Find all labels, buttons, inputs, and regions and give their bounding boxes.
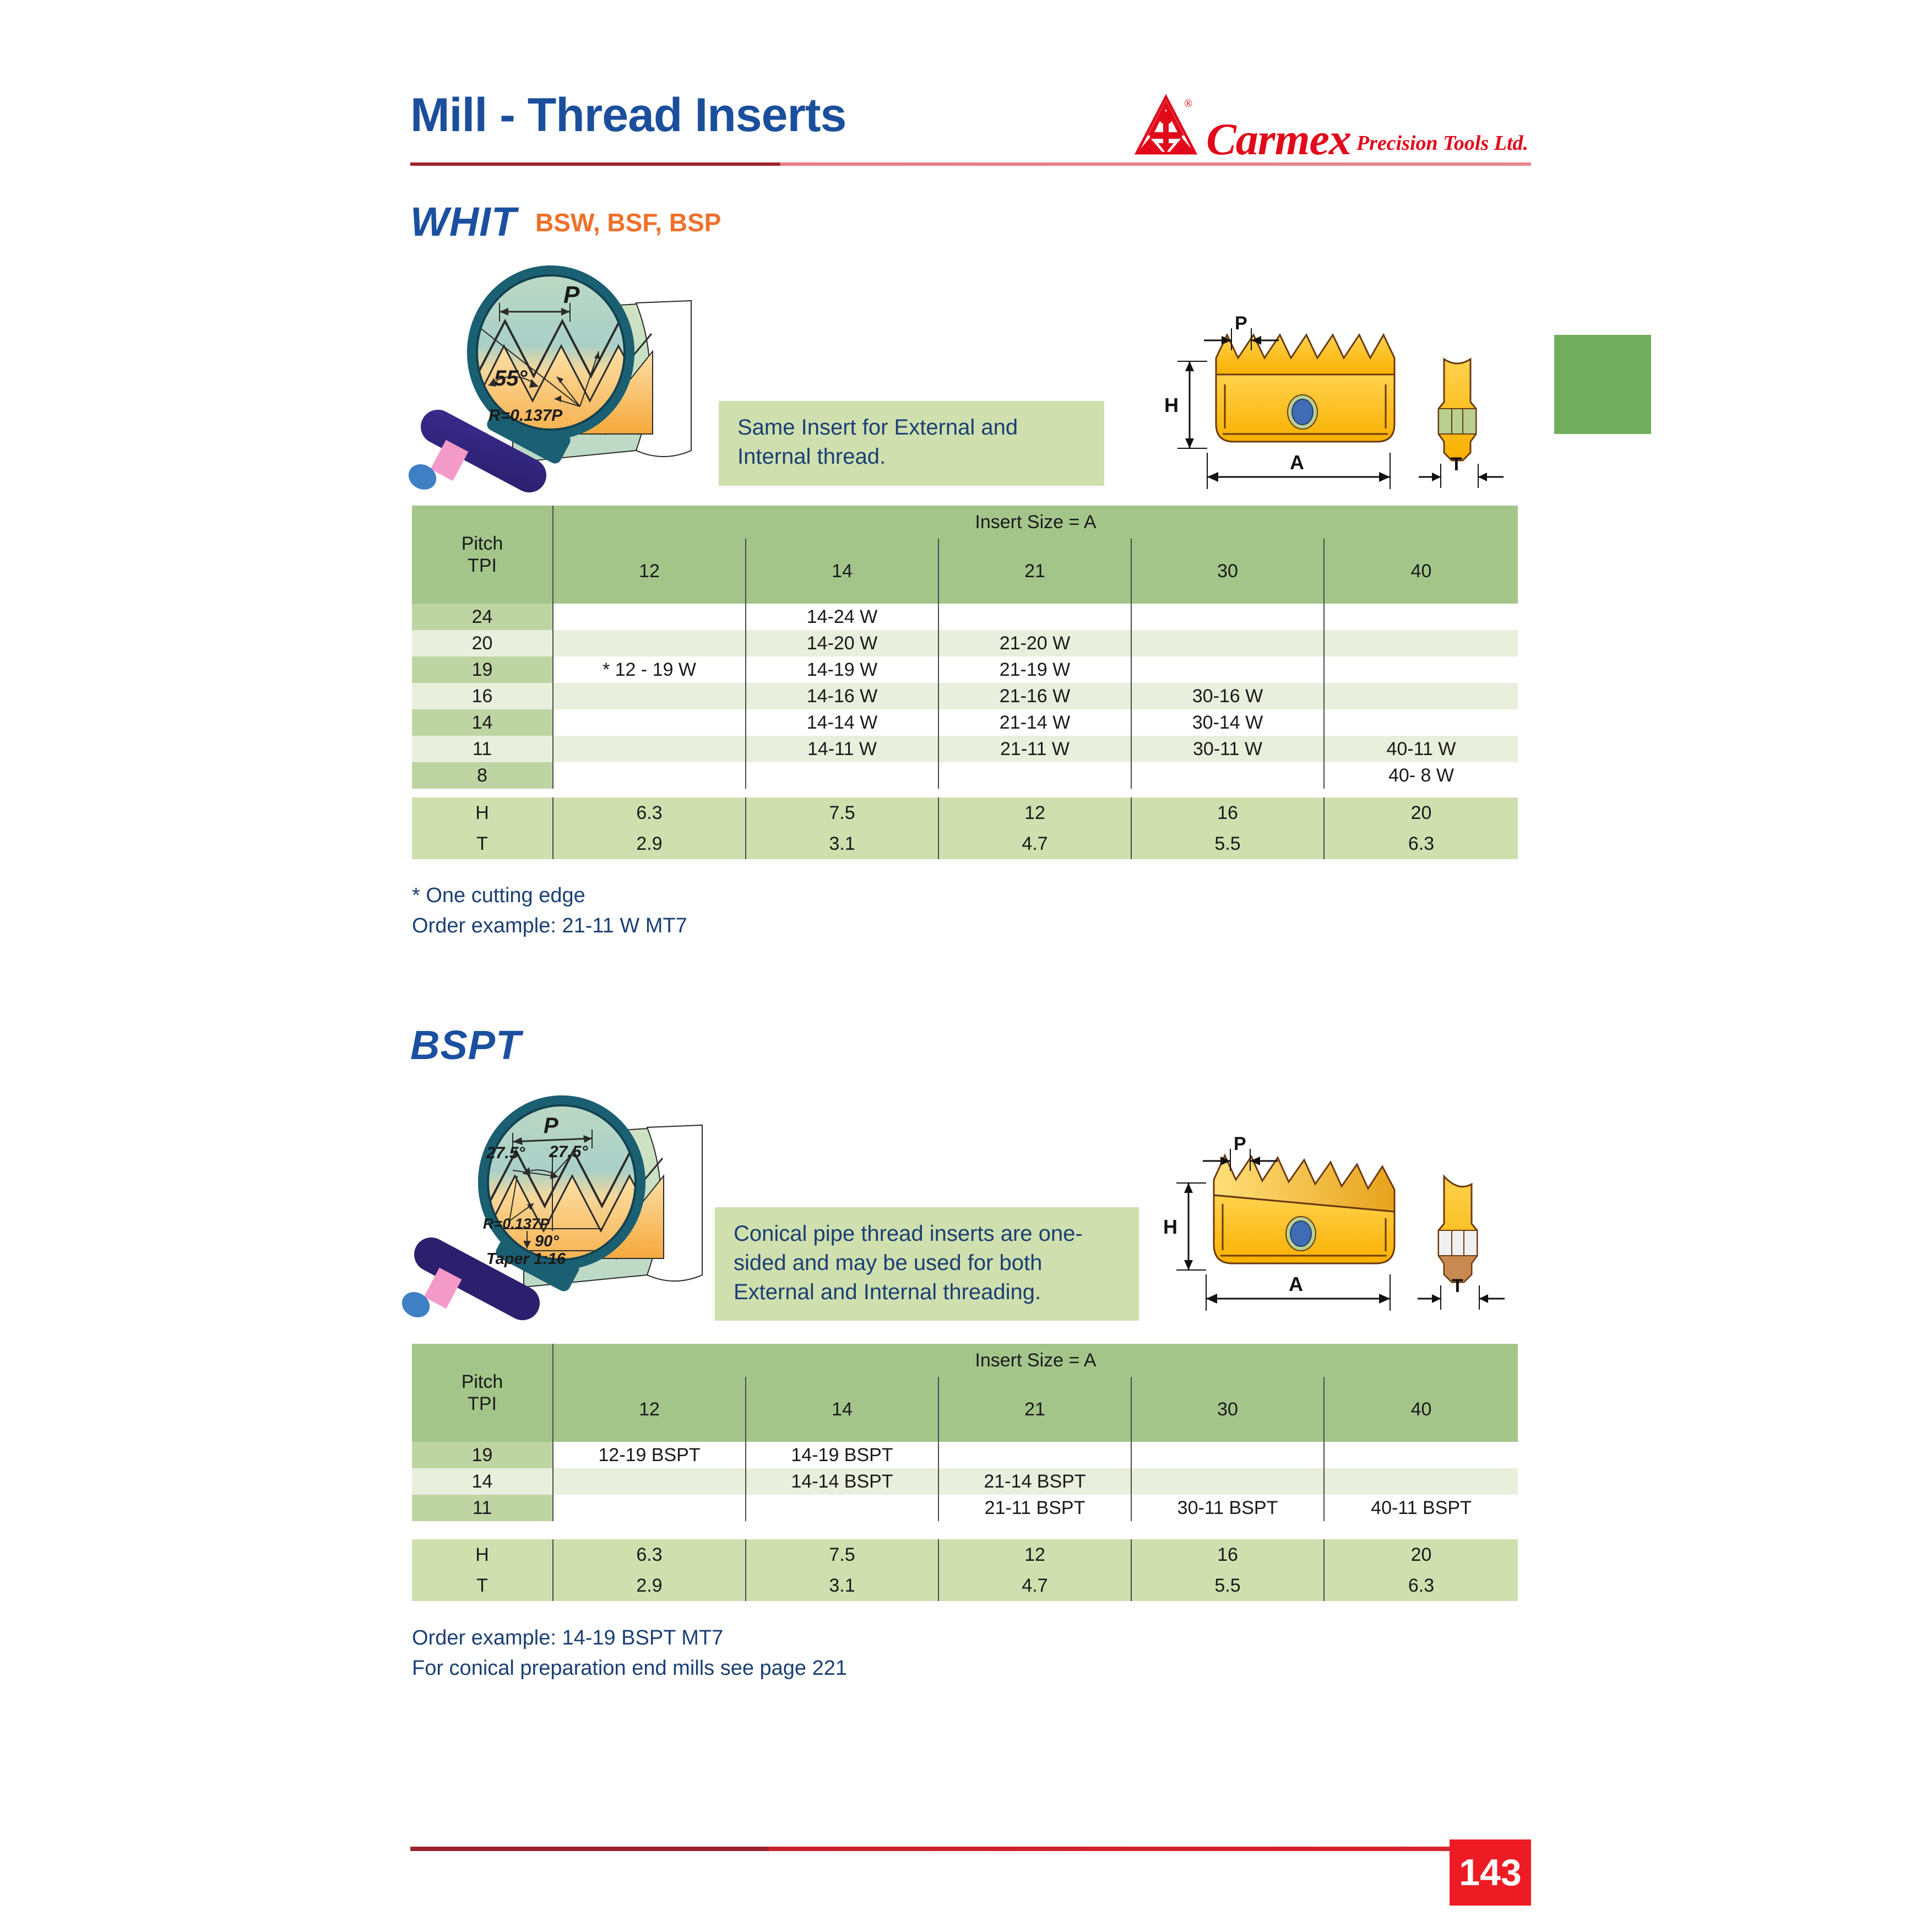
whit-dimension-table: H 6.3 7.5 12 16 20 T 2.9 3.1 4.7 5.5 6.3 xyxy=(412,797,1518,859)
whit-cell-24-21 xyxy=(938,604,1131,630)
bspt-label-radius: R=0.137P xyxy=(483,1215,550,1232)
whit-cell-14-30: 30-14 W xyxy=(1131,709,1324,736)
bspt-cell-11-12 xyxy=(553,1495,746,1521)
whit-insert-label-h: H xyxy=(1164,394,1179,416)
whit-dim-h-14: 7.5 xyxy=(746,797,938,828)
bspt-label-taper: Taper 1:16 xyxy=(486,1250,566,1268)
table-row: 24 14-24 W xyxy=(412,604,1518,630)
whit-dim-h-30: 16 xyxy=(1131,797,1324,828)
whit-cell-16-12 xyxy=(553,683,746,709)
bspt-dim-label-h: H xyxy=(412,1539,553,1570)
whit-col-head-12: 12 xyxy=(553,539,746,604)
table-row: 11 14-11 W 21-11 W 30-11 W 40-11 W xyxy=(412,736,1518,762)
whit-tpi-20: 20 xyxy=(412,630,553,656)
page-number-tab: 143 xyxy=(1450,1839,1531,1906)
bspt-tpi-11: 11 xyxy=(412,1495,553,1521)
bspt-cell-19-40 xyxy=(1324,1442,1518,1468)
whit-cell-14-14: 14-14 W xyxy=(746,709,938,736)
section-title-bspt: BSPT xyxy=(410,1022,521,1068)
whit-cell-16-14: 14-16 W xyxy=(746,683,938,709)
page-title: Mill - Thread Inserts xyxy=(410,88,846,143)
catalog-page: Mill - Thread Inserts ® Carmex Precision xyxy=(0,0,1932,1932)
whit-insert-table: Pitch TPI Insert Size = A 12 14 21 30 40… xyxy=(412,506,1518,789)
bspt-dim-t-14: 3.1 xyxy=(746,1570,938,1601)
whit-tpi-11: 11 xyxy=(412,736,553,762)
bspt-dim-h-12: 6.3 xyxy=(553,1539,746,1570)
whit-cell-20-21: 21-20 W xyxy=(938,630,1131,656)
table-row: 20 14-20 W 21-20 W xyxy=(412,630,1518,656)
bspt-col-head-14: 14 xyxy=(746,1377,938,1442)
whit-note-cutting-edge: * One cutting edge xyxy=(412,881,585,910)
whit-span-label: Insert Size = A xyxy=(553,506,1518,539)
whit-insert-label-p: P xyxy=(1235,313,1247,334)
header-divider xyxy=(410,162,1531,166)
bspt-dim-t-21: 4.7 xyxy=(938,1570,1131,1601)
table-row: 16 14-16 W 21-16 W 30-16 W xyxy=(412,683,1518,709)
bspt-dim-t-40: 6.3 xyxy=(1324,1570,1518,1601)
bspt-col-head-30: 30 xyxy=(1131,1377,1324,1442)
whit-dim-h-21: 12 xyxy=(938,797,1131,828)
whit-cell-8-12 xyxy=(553,762,746,789)
whit-cell-11-12 xyxy=(553,736,746,762)
bspt-tpi-14: 14 xyxy=(412,1468,553,1495)
whit-cell-14-40 xyxy=(1324,709,1518,736)
bspt-cell-11-30: 30-11 BSPT xyxy=(1131,1495,1324,1521)
whit-note-order-example: Order example: 21-11 W MT7 xyxy=(412,911,687,940)
bspt-label-half-angle-right: 27.5° xyxy=(549,1143,588,1161)
table-row: 14 14-14 BSPT 21-14 BSPT xyxy=(412,1468,1518,1495)
whit-dim-t-12: 2.9 xyxy=(553,828,746,859)
whit-dim-h-12: 6.3 xyxy=(553,797,746,828)
bspt-cell-14-12 xyxy=(553,1468,746,1495)
whit-dim-t-14: 3.1 xyxy=(746,828,938,859)
whit-cell-19-14: 14-19 W xyxy=(746,656,938,683)
whit-callout-box: Same Insert for External and Internal th… xyxy=(719,401,1104,486)
bspt-col-head-12: 12 xyxy=(553,1377,746,1442)
whit-cell-8-30 xyxy=(1131,762,1324,789)
dimension-row-t: T 2.9 3.1 4.7 5.5 6.3 xyxy=(412,828,1518,859)
bspt-cell-11-14 xyxy=(746,1495,938,1521)
section-subtitle-whit: BSW, BSF, BSP xyxy=(535,208,721,237)
table-header-row: 12 14 21 30 40 xyxy=(412,539,1518,604)
bspt-cell-11-40: 40-11 BSPT xyxy=(1324,1495,1518,1521)
whit-cell-16-21: 21-16 W xyxy=(938,683,1131,709)
whit-cell-20-14: 14-20 W xyxy=(746,630,938,656)
whit-insert-label-a: A xyxy=(1290,451,1304,474)
table-header-row: 12 14 21 30 40 xyxy=(412,1377,1518,1442)
bspt-corner-label: Pitch TPI xyxy=(412,1344,553,1442)
bspt-dim-h-21: 12 xyxy=(938,1539,1131,1570)
whit-cell-16-40 xyxy=(1324,683,1518,709)
whit-cell-11-40: 40-11 W xyxy=(1324,736,1518,762)
table-header-span-row: Pitch TPI Insert Size = A xyxy=(412,506,1518,539)
bspt-cell-19-14: 14-19 BSPT xyxy=(746,1442,938,1468)
whit-col-head-14: 14 xyxy=(746,539,938,604)
section-tab-marker xyxy=(1554,335,1651,434)
whit-cell-8-40: 40- 8 W xyxy=(1324,762,1518,789)
bspt-note-reference: For conical preparation end mills see pa… xyxy=(412,1654,847,1683)
whit-insert-diagram: P H A T xyxy=(1157,314,1531,496)
whit-label-pitch: P xyxy=(563,281,580,308)
dimension-row-h: H 6.3 7.5 12 16 20 xyxy=(412,797,1518,828)
whit-cell-20-30 xyxy=(1131,630,1324,656)
whit-tpi-19: 19 xyxy=(412,656,553,683)
whit-tpi-16: 16 xyxy=(412,683,553,709)
bspt-note-order-example: Order example: 14-19 BSPT MT7 xyxy=(412,1624,723,1652)
whit-cell-24-40 xyxy=(1324,604,1518,630)
whit-col-head-21: 21 xyxy=(938,539,1131,604)
svg-text:®: ® xyxy=(1184,97,1192,110)
section-title-whit: WHIT xyxy=(410,199,517,245)
bspt-insert-label-a: A xyxy=(1289,1273,1303,1295)
bspt-cell-14-30 xyxy=(1131,1468,1324,1495)
whit-cell-24-30 xyxy=(1131,604,1324,630)
whit-cell-24-12 xyxy=(553,604,746,630)
bspt-label-pitch: P xyxy=(544,1114,558,1138)
whit-tpi-8: 8 xyxy=(412,762,553,789)
whit-col-head-40: 40 xyxy=(1324,539,1518,604)
section-heading-bspt: BSPT xyxy=(410,1022,521,1068)
bspt-col-head-40: 40 xyxy=(1324,1377,1518,1442)
bspt-thread-profile-illustration: P 27.5° 27.5° R=0.137P 90° Taper 1:16 xyxy=(405,1093,735,1319)
bspt-cell-11-21: 21-11 BSPT xyxy=(938,1495,1131,1521)
whit-cell-20-40 xyxy=(1324,630,1518,656)
whit-cell-19-30 xyxy=(1131,656,1324,683)
bspt-col-head-21: 21 xyxy=(938,1377,1131,1442)
bspt-cell-19-12: 12-19 BSPT xyxy=(553,1442,746,1468)
bspt-dim-t-12: 2.9 xyxy=(553,1570,746,1601)
whit-cell-11-30: 30-11 W xyxy=(1131,736,1324,762)
logo-wordmark: Carmex xyxy=(1206,118,1351,160)
bspt-tpi-19: 19 xyxy=(412,1442,553,1468)
whit-cell-8-14 xyxy=(746,762,938,789)
whit-label-radius: R=0.137P xyxy=(489,406,563,425)
bspt-dim-label-t: T xyxy=(412,1570,553,1601)
whit-dim-t-30: 5.5 xyxy=(1131,828,1324,859)
bspt-cell-14-21: 21-14 BSPT xyxy=(938,1468,1131,1495)
whit-dim-h-40: 20 xyxy=(1324,797,1518,828)
bspt-insert-diagram: P H A xyxy=(1157,1135,1531,1316)
bspt-dim-h-14: 7.5 xyxy=(746,1539,938,1570)
bspt-cell-14-40 xyxy=(1324,1468,1518,1495)
bspt-span-label: Insert Size = A xyxy=(553,1344,1518,1377)
table-row: 19 * 12 - 19 W 14-19 W 21-19 W xyxy=(412,656,1518,683)
whit-cell-14-12 xyxy=(553,709,746,736)
table-row: 8 40- 8 W xyxy=(412,762,1518,789)
bspt-callout-text: Conical pipe thread inserts are one-side… xyxy=(734,1222,1083,1304)
bspt-insert-label-t: T xyxy=(1452,1276,1463,1296)
dimension-row-h: H 6.3 7.5 12 16 20 xyxy=(412,1539,1518,1570)
whit-cell-24-14: 14-24 W xyxy=(746,604,938,630)
bspt-insert-label-h: H xyxy=(1163,1215,1177,1238)
table-row: 11 21-11 BSPT 30-11 BSPT 40-11 BSPT xyxy=(412,1495,1518,1521)
bspt-label-half-angle-left: 27.5° xyxy=(486,1144,525,1162)
whit-dim-label-h: H xyxy=(412,797,553,828)
carmex-triangle-icon: ® xyxy=(1133,95,1198,160)
page-number: 143 xyxy=(1450,1839,1531,1906)
footer-divider xyxy=(410,1847,1531,1851)
bspt-dim-t-30: 5.5 xyxy=(1131,1570,1324,1601)
whit-cell-11-14: 14-11 W xyxy=(746,736,938,762)
whit-tpi-24: 24 xyxy=(412,604,553,630)
whit-corner-label: Pitch TPI xyxy=(412,506,553,604)
table-row: 19 12-19 BSPT 14-19 BSPT xyxy=(412,1442,1518,1468)
whit-dim-label-t: T xyxy=(412,828,553,859)
carmex-logo: ® Carmex Precision Tools Ltd. xyxy=(1133,94,1528,160)
whit-dim-t-40: 6.3 xyxy=(1324,828,1518,859)
whit-dim-t-21: 4.7 xyxy=(938,828,1131,859)
whit-cell-19-12: * 12 - 19 W xyxy=(553,656,746,683)
whit-cell-20-12 xyxy=(553,630,746,656)
bspt-insert-table: Pitch TPI Insert Size = A 12 14 21 30 40… xyxy=(412,1344,1518,1521)
bspt-dimension-table: H 6.3 7.5 12 16 20 T 2.9 3.1 4.7 5.5 6.3 xyxy=(412,1539,1518,1601)
bspt-dim-h-30: 16 xyxy=(1131,1539,1324,1570)
logo-tagline: Precision Tools Ltd. xyxy=(1356,131,1528,160)
whit-cell-16-30: 30-16 W xyxy=(1131,683,1324,709)
whit-cell-19-40 xyxy=(1324,656,1518,683)
bspt-cell-19-21 xyxy=(938,1442,1131,1468)
whit-cell-14-21: 21-14 W xyxy=(938,709,1131,736)
bspt-callout-box: Conical pipe thread inserts are one-side… xyxy=(715,1207,1139,1321)
whit-thread-profile-illustration: P 55° R=0.137P xyxy=(405,269,735,495)
whit-callout-text: Same Insert for External and Internal th… xyxy=(737,415,1018,469)
dimension-row-t: T 2.9 3.1 4.7 5.5 6.3 xyxy=(412,1570,1518,1601)
bspt-cell-19-30 xyxy=(1131,1442,1324,1468)
bspt-insert-label-p: P xyxy=(1234,1133,1246,1154)
bspt-cell-14-14: 14-14 BSPT xyxy=(746,1468,938,1495)
page-header: Mill - Thread Inserts ® Carmex Precision xyxy=(410,83,1528,182)
whit-col-head-30: 30 xyxy=(1131,539,1324,604)
bspt-dim-h-40: 20 xyxy=(1324,1539,1518,1570)
whit-insert-label-t: T xyxy=(1451,454,1462,475)
section-heading-whit: WHITBSW, BSF, BSP xyxy=(410,198,721,245)
whit-cell-8-21 xyxy=(938,762,1131,789)
table-row: 14 14-14 W 21-14 W 30-14 W xyxy=(412,709,1518,736)
whit-label-angle: 55° xyxy=(494,366,528,390)
bspt-label-perpendicular: 90° xyxy=(535,1233,559,1250)
whit-cell-11-21: 21-11 W xyxy=(938,736,1131,762)
table-header-span-row: Pitch TPI Insert Size = A xyxy=(412,1344,1518,1377)
whit-cell-19-21: 21-19 W xyxy=(938,656,1131,683)
whit-tpi-14: 14 xyxy=(412,709,553,736)
